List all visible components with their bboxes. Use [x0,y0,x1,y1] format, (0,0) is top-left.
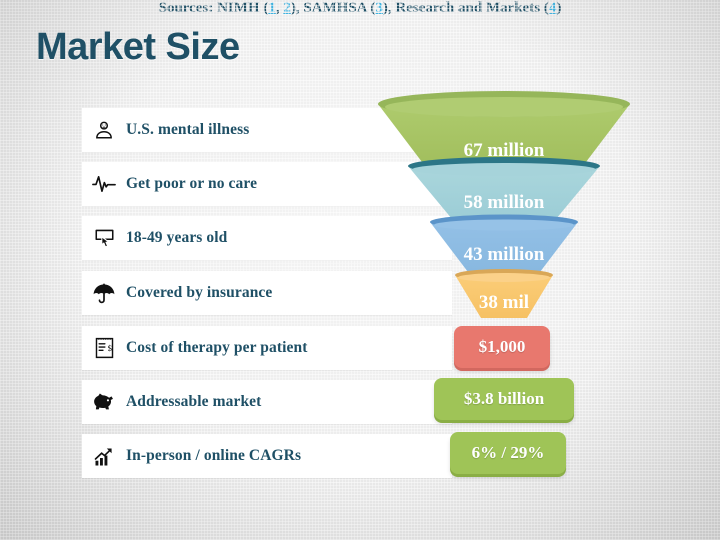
svg-text:$: $ [107,343,112,353]
funnel-value-3: 43 million [464,244,545,265]
list-item[interactable]: U.S. mental illness [82,108,452,152]
growth-chart-icon [82,434,126,478]
list-item[interactable]: 18-49 years old [82,216,452,260]
sources-suffix: ) [556,0,561,16]
sources-mid-2: ), Research and Markets ( [383,0,549,16]
list-item[interactable]: Get poor or no care [82,162,452,206]
sources-footer: Sources: NIMH (1, 2), SAMHSA (3), Resear… [0,0,720,17]
piggybank-icon [82,380,126,424]
heartbeat-icon [82,162,126,206]
list-item-label: In-person / online CAGRs [126,447,301,465]
status-badge-market: $3.8 billion [434,378,574,420]
funnel-value-4: 38 mil [479,292,529,313]
person-icon [82,108,126,152]
sources-mid-1: ), SAMHSA ( [291,0,376,16]
status-badge-cost: $1,000 [454,326,550,368]
page-title: Market Size [36,26,240,69]
funnel-value-1: 67 million [464,140,545,161]
list-item[interactable]: Addressable market [82,380,452,424]
slide-canvas: Market Size U.S. mental illness Ge [0,0,720,540]
list-item[interactable]: Covered by insurance [82,271,452,315]
list-item-label: U.S. mental illness [126,121,249,139]
receipt-icon: $ [82,326,126,370]
list-item-label: Addressable market [126,393,261,411]
list-item-label: 18-49 years old [126,229,227,247]
list-item[interactable]: In-person / online CAGRs [82,434,452,478]
list-item-label: Cost of therapy per patient [126,339,308,357]
list-item[interactable]: $ Cost of therapy per patient [82,326,452,370]
list-item-label: Covered by insurance [126,284,272,302]
source-link-1[interactable]: 1 [268,0,276,16]
sources-prefix: Sources: NIMH ( [159,0,269,16]
source-link-3[interactable]: 3 [375,0,383,16]
status-badge-cagr: 6% / 29% [450,432,566,474]
source-link-2[interactable]: 2 [283,0,291,16]
list-item-label: Get poor or no care [126,175,257,193]
funnel-value-2: 58 million [464,192,545,213]
click-icon [82,216,126,260]
umbrella-icon [82,271,126,315]
